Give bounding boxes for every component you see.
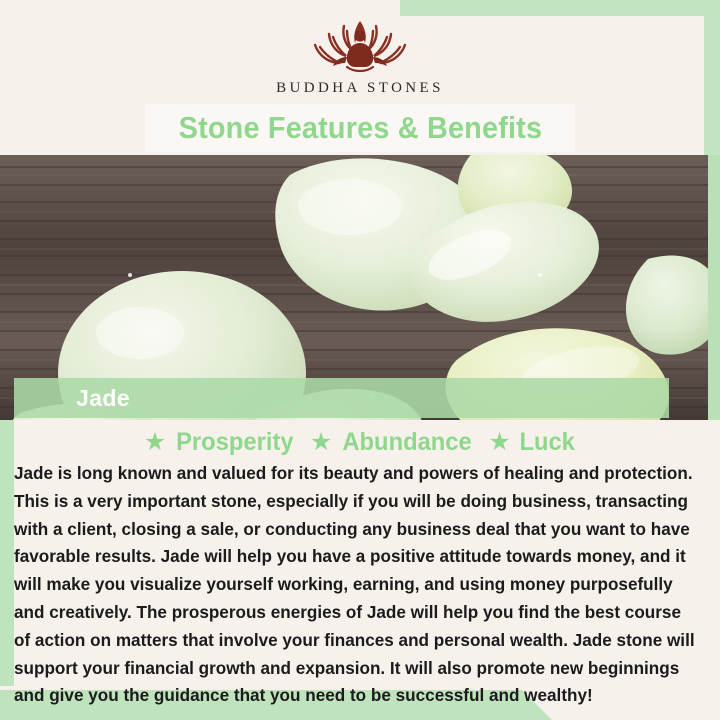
section-banner: Stone Features & Benefits [145, 104, 575, 152]
benefits-row: ★ Prosperity ★ Abundance ★ Luck [0, 428, 720, 457]
brand-name: BUDDHA STONES [276, 80, 444, 97]
star-icon: ★ [144, 430, 166, 455]
star-icon: ★ [310, 430, 332, 455]
benefit-item-abundance: ★ Abundance [310, 428, 476, 457]
lotus-meditation-icon [285, 12, 435, 78]
star-icon: ★ [488, 430, 510, 455]
photo-caption-band: Jade [14, 378, 669, 418]
decor-left-strip [0, 418, 14, 686]
stone-name-label: Jade [76, 385, 130, 412]
stone-description: Jade is long known and valued for its be… [14, 460, 696, 710]
page-title: Stone Features & Benefits [178, 110, 542, 146]
brand-logo: BUDDHA STONES [0, 12, 720, 106]
decor-right-strip-lower [708, 155, 720, 420]
benefit-label: Luck [519, 428, 574, 457]
infographic-page: BUDDHA STONES Stone Features & Benefits [0, 0, 720, 720]
benefit-label: Prosperity [176, 428, 293, 457]
benefit-item-prosperity: ★ Prosperity [144, 428, 297, 457]
benefit-item-luck: ★ Luck [488, 428, 576, 457]
benefit-label: Abundance [343, 428, 472, 457]
